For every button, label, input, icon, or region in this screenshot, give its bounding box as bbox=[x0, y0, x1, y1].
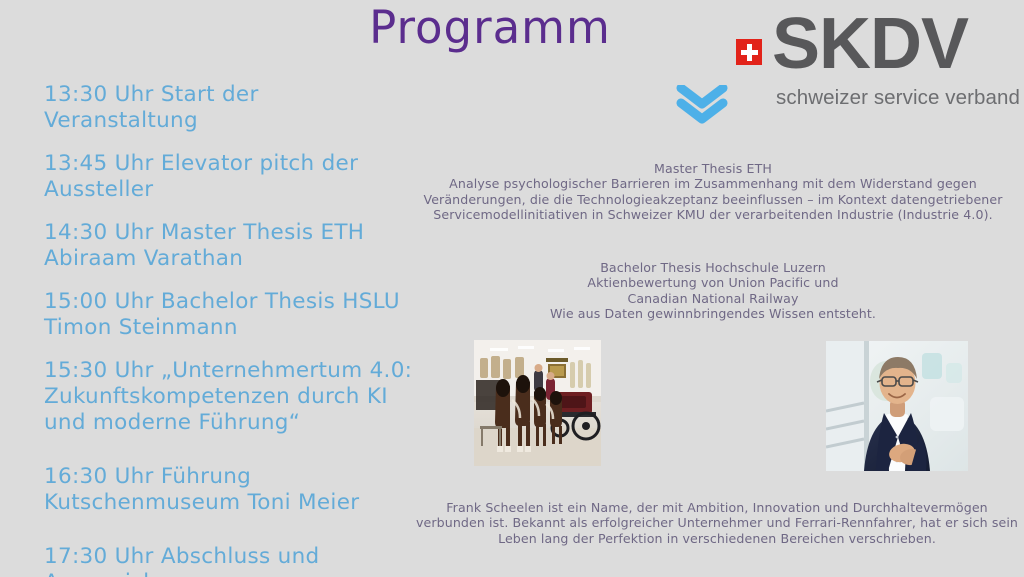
agenda-item-1345: 13:45 Uhr Elevator pitch der Aussteller bbox=[44, 151, 444, 203]
agenda-item-1530: 15:30 Uhr „Unternehmertum 4.0: Zukunftsk… bbox=[44, 358, 444, 436]
chevron-down-icon bbox=[676, 85, 728, 125]
agenda-item-1730: 17:30 Uhr Abschluss und Apero riche bbox=[44, 544, 444, 577]
presentation-slide: Programm 13:30 Uhr Start der Veranstaltu… bbox=[0, 0, 1024, 577]
description-bachelor-thesis-hslu: Bachelor Thesis Hochschule Luzern Aktien… bbox=[415, 260, 1011, 321]
swiss-cross-icon bbox=[736, 39, 762, 65]
skdv-tagline: schweizer service verband bbox=[776, 86, 1020, 110]
agenda-item-1330: 13:30 Uhr Start der Veranstaltung bbox=[44, 82, 444, 134]
photo-speaker-portrait bbox=[826, 341, 968, 471]
description-speaker-bio: Frank Scheelen ist ein Name, der mit Amb… bbox=[410, 500, 1024, 546]
agenda-item-1500: 15:00 Uhr Bachelor Thesis HSLU Timon Ste… bbox=[44, 289, 444, 341]
agenda-item-1430: 14:30 Uhr Master Thesis ETH Abiraam Vara… bbox=[44, 220, 444, 272]
skdv-logo: SKDV schweizer service verband bbox=[736, 6, 1008, 110]
photo-kutschenmuseum bbox=[474, 340, 601, 466]
agenda-item-1630: 16:30 Uhr Führung Kutschenmuseum Toni Me… bbox=[44, 464, 444, 516]
skdv-logo-row: SKDV bbox=[736, 6, 968, 82]
page-title: Programm bbox=[330, 4, 650, 51]
description-master-thesis-eth: Master Thesis ETH Analyse psychologische… bbox=[415, 161, 1011, 222]
agenda-list: 13:30 Uhr Start der Veranstaltung 13:45 … bbox=[44, 82, 444, 577]
skdv-wordmark: SKDV bbox=[772, 10, 968, 78]
